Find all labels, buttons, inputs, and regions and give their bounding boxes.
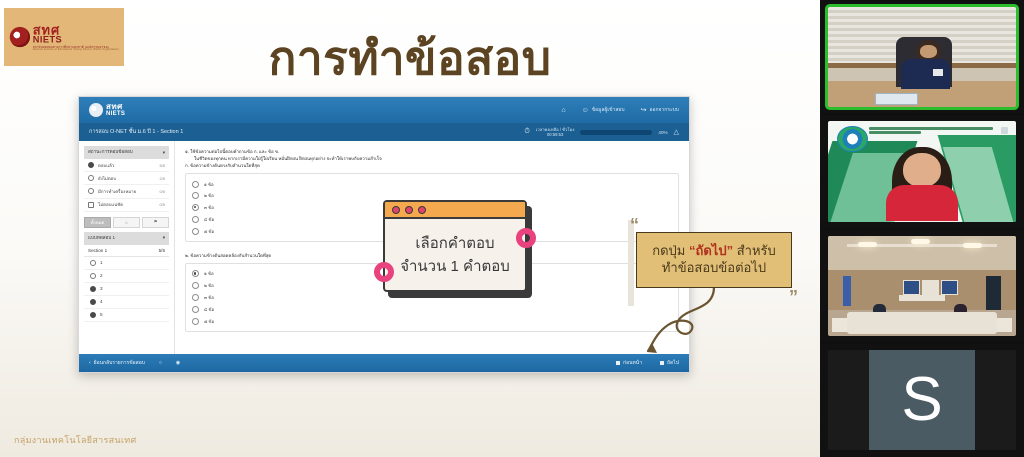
status-panel-title: สถานะการตอบข้อสอบ [88, 149, 133, 156]
settings-icon[interactable]: ◉ [176, 360, 180, 366]
app-subheader: การสอบ O-NET ชั้น ม.6 ปี 1 - Section 1 ⏱… [79, 123, 689, 141]
unanswered-marker-icon [88, 175, 94, 181]
quote-line-1-after: สำหรับ [733, 243, 776, 258]
timer-and-progress: ⏱ เวลาคงเหลือ / ชั่วโมง 00:59:53 40% △ [524, 127, 679, 138]
nav-home[interactable]: ⌂ [561, 107, 565, 114]
question-nav-label: 4 [100, 299, 103, 304]
chevron-left-icon: ‹ [89, 360, 91, 366]
section-row-count: 5/5 [159, 248, 165, 253]
status-row-label: ไม่ตอบแน่ชัด [98, 201, 123, 208]
radio-icon [192, 216, 199, 223]
choice-label: ๔ ข้อ [204, 216, 214, 223]
question-nav-item-5[interactable]: 5 [84, 309, 169, 322]
question-nav-item-3[interactable]: 3 [84, 283, 169, 296]
question-state-icon [90, 286, 96, 292]
prev-button-label: ก่อนหน้า [623, 359, 642, 367]
prev-button[interactable]: ก่อนหน้า [616, 359, 642, 367]
user-icon: ☺ [582, 107, 589, 114]
flag-icon [88, 202, 94, 208]
choice-option[interactable]: ๓ ข้อ [192, 292, 672, 304]
callout-select-answer: เลือกคำตอบ จำนวน 1 คำตอบ [383, 200, 527, 292]
app-nav: ⌂ ☺ ข้อมูลผู้เข้าสอบ ↪ ออกจากระบบ [561, 106, 679, 114]
status-panel-header[interactable]: สถานะการตอบข้อสอบ ▾ [84, 146, 169, 159]
app-brand-thai: สทศ [106, 103, 125, 111]
status-row-count: 5/5 [159, 163, 165, 168]
callout-line-2: จำนวน 1 คำตอบ [400, 258, 510, 277]
decorative-ring-icon [374, 262, 394, 282]
quote-line-1-before: กดปุ่ม [652, 243, 689, 258]
app-brand-mark [89, 103, 103, 117]
radio-icon [192, 192, 199, 199]
window-dot-icon [392, 206, 400, 214]
back-to-list-label: ย้อนกลับรายการข้อสอบ [94, 359, 145, 367]
choice-label: ๒ ข้อ [204, 282, 214, 289]
video-participant-rail: S [820, 0, 1024, 457]
question-nav-label: 1 [100, 260, 103, 265]
radio-icon-selected [192, 270, 199, 277]
breadcrumb: การสอบ O-NET ชั้น ม.6 ปี 1 - Section 1 [89, 128, 183, 136]
callout-line-1: เลือกคำตอบ [415, 235, 494, 254]
slide-footer: กลุ่มงานเทคโนโลยีสารสนเทศ [14, 433, 136, 447]
home-icon: ⌂ [561, 107, 565, 114]
choice-option[interactable]: ๑ ข้อ [192, 178, 672, 190]
status-row-label: มีการทำเครื่องหมาย [98, 188, 136, 195]
sidebar-filter-tabs: ทั้งหมด ○ ⚑ [84, 217, 169, 228]
question-state-icon [90, 273, 96, 279]
chevron-down-icon: ▾ [163, 235, 165, 241]
status-row-flagged[interactable]: ไม่ตอบแน่ชัด 0/5 [84, 199, 169, 212]
section-row[interactable]: Section 1 5/5 [84, 245, 169, 257]
status-row-count: 2/5 [159, 176, 165, 181]
question-1-subquestion: ก. ข้อความข้างต้นตรงกับสำนวนใดที่สุด [185, 163, 260, 168]
choice-label: ๒ ข้อ [204, 192, 214, 199]
app-brand-en: NIETS [106, 111, 125, 117]
callout-next-button: “ กดปุ่ม “ถัดไป” สำหรับ ทำข้อสอบข้อต่อไป… [636, 232, 792, 288]
answered-marker-icon [88, 162, 94, 168]
question-nav-label: 5 [100, 312, 103, 317]
next-arrow-icon [660, 361, 664, 365]
status-row-marked[interactable]: มีการทำเครื่องหมาย 0/5 [84, 185, 169, 198]
nav-logout[interactable]: ↪ ออกจากระบบ [641, 106, 679, 114]
question-nav-label: 2 [100, 273, 103, 278]
logout-icon: ↪ [641, 107, 647, 114]
app-bottom-bar: ‹ ย้อนกลับรายการข้อสอบ ○ ◉ ก่อนหน้า ถัดไ… [79, 354, 689, 372]
video-tile-meeting-room[interactable] [820, 230, 1024, 342]
question-nav-item-1[interactable]: 1 [84, 257, 169, 270]
nav-profile[interactable]: ☺ ข้อมูลผู้เข้าสอบ [582, 106, 625, 114]
quote-line-2: ทำข้อสอบข้อต่อไป [662, 260, 766, 277]
video-tile-office[interactable] [820, 1, 1024, 113]
app-header: สทศ NIETS ⌂ ☺ ข้อมูลผู้เข้าสอบ ↪ ออกจากร… [79, 97, 689, 123]
filter-tab-all[interactable]: ทั้งหมด [84, 217, 111, 228]
choice-label: ๕ ข้อ [204, 318, 214, 325]
window-dot-icon [418, 206, 426, 214]
choice-label: ๑ ข้อ [204, 270, 214, 277]
status-row-count: 0/5 [159, 189, 165, 194]
org-logo-icon [837, 126, 867, 152]
page-title: การทำข้อสอบ [0, 22, 820, 95]
exam-sidebar: สถานะการตอบข้อสอบ ▾ ตอบแล้ว 5/5 ยังไม่ตอ… [79, 141, 175, 354]
radio-icon [192, 306, 199, 313]
radio-icon [192, 181, 199, 188]
question-1-number: ๑. [185, 149, 189, 154]
search-icon[interactable]: ○ [159, 360, 162, 366]
choice-label: ๓ ข้อ [204, 204, 214, 211]
quote-highlight: “ถัดไป” [689, 243, 733, 258]
question-nav-item-4[interactable]: 4 [84, 296, 169, 309]
question-state-icon [90, 299, 96, 305]
question-state-icon [90, 260, 96, 266]
radio-icon [192, 294, 199, 301]
nav-logout-label: ออกจากระบบ [649, 106, 679, 114]
status-row-label: ตอบแล้ว [98, 162, 114, 169]
choice-label: ๕ ข้อ [204, 228, 214, 235]
quote-open-icon: “ [630, 216, 639, 234]
timer: เวลาคงเหลือ / ชั่วโมง 00:59:53 [536, 127, 575, 138]
chevron-down-icon: ▾ [163, 150, 165, 156]
avatar-initial: S [901, 369, 942, 431]
choice-option[interactable]: ๕ ข้อ [192, 315, 672, 327]
choice-label: ๓ ข้อ [204, 294, 214, 301]
quote-line-1: กดปุ่ม “ถัดไป” สำหรับ [652, 243, 776, 260]
next-button[interactable]: ถัดไป [660, 359, 679, 367]
prev-arrow-icon [616, 361, 620, 365]
clock-icon: ⏱ [524, 128, 529, 136]
status-row-answered[interactable]: ตอบแล้ว 5/5 [84, 159, 169, 172]
quote-close-icon: ” [789, 288, 798, 306]
question-state-icon [90, 312, 96, 318]
avatar: S [869, 350, 975, 450]
radio-icon-selected [192, 204, 199, 211]
progress-percent: 40% [658, 130, 667, 135]
question-nav-item-2[interactable]: 2 [84, 270, 169, 283]
radio-icon [192, 228, 199, 235]
status-row-count: 0/5 [159, 202, 165, 207]
question-1-text: ๑. ใช้ข้อความต่อไปนี้ตอบคำถามข้อ ก. และ … [185, 148, 679, 169]
question-1-stem: ใช้ข้อความต่อไปนี้ตอบคำถามข้อ ก. และ ข้อ… [190, 149, 279, 154]
nav-profile-label: ข้อมูลผู้เข้าสอบ [592, 106, 625, 114]
section-row-label: Section 1 [88, 248, 107, 253]
choice-option[interactable]: ๔ ข้อ [192, 303, 672, 315]
back-to-list-button[interactable]: ‹ ย้อนกลับรายการข้อสอบ [89, 359, 145, 367]
decorative-ring-icon [516, 228, 536, 248]
radio-icon [192, 318, 199, 325]
status-row-label: ยังไม่ตอบ [98, 175, 116, 182]
marked-marker-icon [88, 188, 94, 194]
question-nav-label: 3 [100, 286, 103, 291]
choice-label: ๔ ข้อ [204, 306, 214, 313]
slide-area: สทศ NIETS สถาบันทดสอบทางการศึกษาแห่งชาติ… [0, 0, 820, 457]
choice-label: ๑ ข้อ [204, 181, 214, 188]
progress-bar [580, 130, 652, 135]
filter-tab-flag[interactable]: ⚑ [142, 217, 169, 228]
question-2-number: ๒. [185, 253, 189, 258]
section-group-title: แบบทดสอบ 1 [88, 235, 115, 242]
question-1-passage: ในชีวิตของทุกคน หากเรามีความใฝ่รู้ใฝ่เรี… [185, 155, 679, 162]
presentation-screenshot: สทศ NIETS สถาบันทดสอบทางการศึกษาแห่งชาติ… [0, 0, 1024, 457]
status-row-unanswered[interactable]: ยังไม่ตอบ 2/5 [84, 172, 169, 185]
pin-icon [1001, 127, 1008, 134]
filter-tab-circle[interactable]: ○ [113, 217, 140, 228]
decorative-arrow-icon [630, 285, 740, 357]
question-2-stem: ข้อความข้างต้นสอดคล้องกับสำนวนใดที่สุด [190, 253, 271, 258]
timer-value: 00:59:53 [547, 132, 563, 137]
callout-titlebar [385, 202, 525, 219]
radio-icon [192, 282, 199, 289]
wifi-icon: △ [674, 128, 679, 136]
section-group-header[interactable]: แบบทดสอบ 1 ▾ [84, 232, 169, 245]
next-button-label: ถัดไป [667, 359, 679, 367]
video-tile-green-background[interactable] [820, 115, 1024, 227]
video-tile-avatar[interactable]: S [820, 344, 1024, 456]
window-dot-icon [405, 206, 413, 214]
app-brand: สทศ NIETS [89, 103, 125, 117]
